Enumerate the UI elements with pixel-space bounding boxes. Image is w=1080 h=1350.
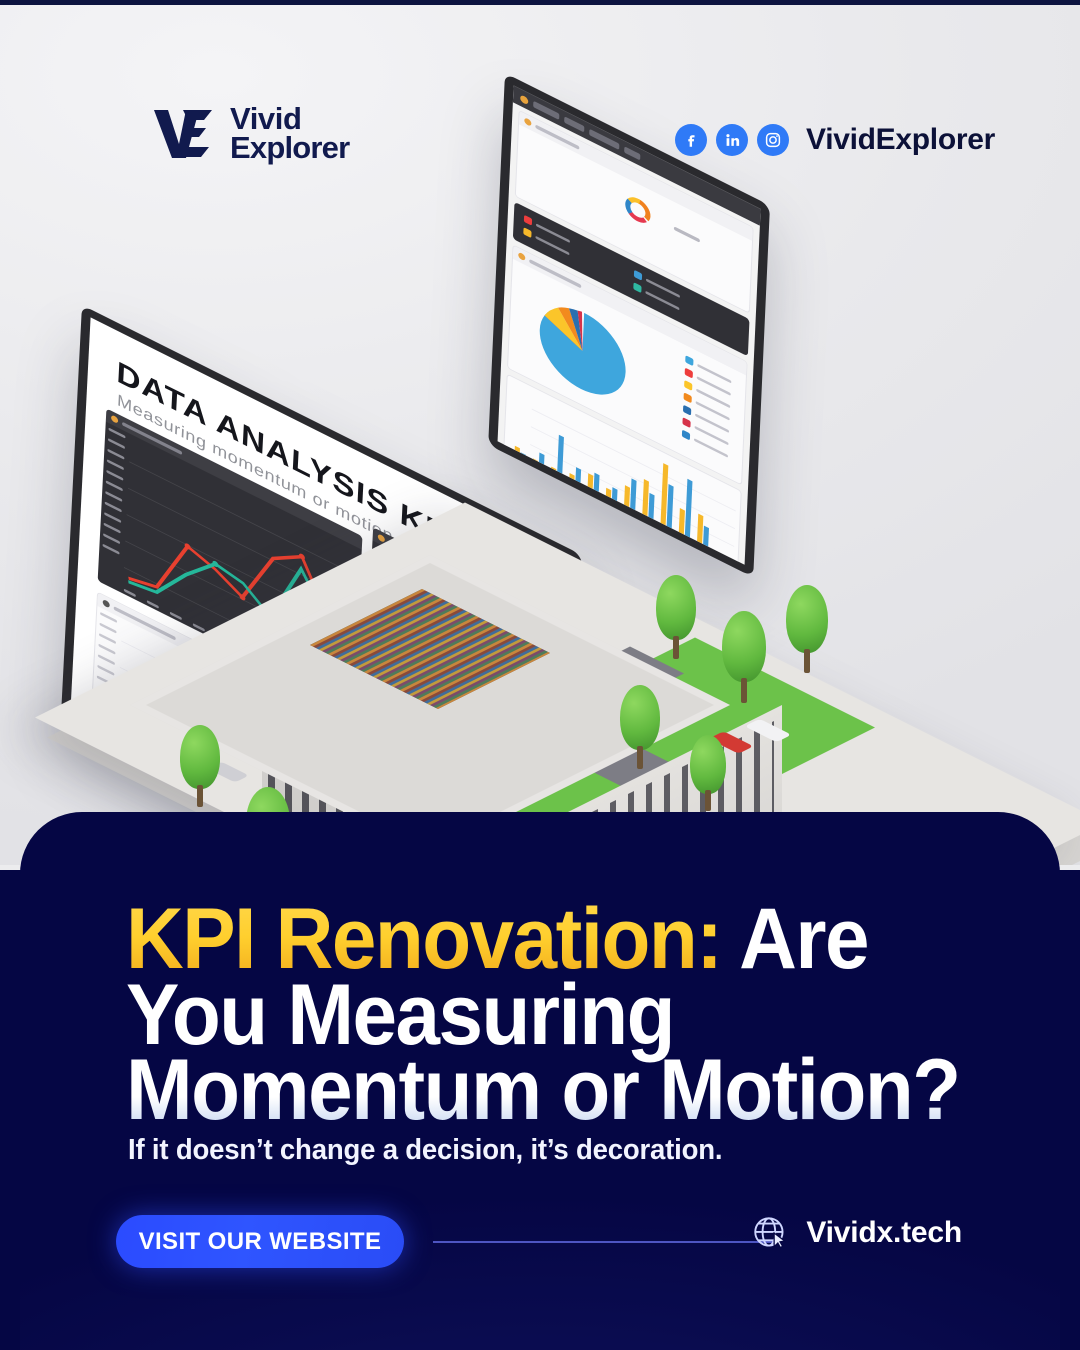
visit-website-label: VISIT OUR WEBSITE bbox=[139, 1228, 382, 1256]
vivid-explorer-monogram-icon bbox=[152, 106, 216, 162]
globe-cursor-icon bbox=[750, 1212, 792, 1254]
visit-website-button[interactable]: VISIT OUR WEBSITE bbox=[116, 1215, 404, 1268]
toolbar-label bbox=[564, 116, 584, 132]
social-handle: VividExplorer bbox=[806, 123, 995, 157]
tree bbox=[722, 611, 766, 705]
toolbar-status-dot bbox=[520, 94, 528, 105]
tree bbox=[180, 725, 220, 809]
headline: KPI Renovation: Are You Measuring Moment… bbox=[126, 902, 960, 1129]
footer-divider bbox=[433, 1241, 780, 1243]
tree bbox=[656, 575, 696, 661]
instagram-icon[interactable] bbox=[757, 124, 789, 156]
social-row: VividExplorer bbox=[675, 123, 995, 157]
panel-status-dot bbox=[518, 252, 525, 262]
hero-section: DATA ANALYSIS KPL Measuring momentum or … bbox=[0, 5, 1080, 865]
tree bbox=[690, 735, 726, 813]
headline-tail: Are bbox=[721, 891, 868, 987]
promo-card: KPI Renovation: Are You Measuring Moment… bbox=[20, 812, 1060, 1350]
toolbar-label bbox=[624, 146, 640, 160]
website-lockup[interactable]: Vividx.tech bbox=[750, 1212, 962, 1254]
linkedin-icon[interactable] bbox=[716, 124, 748, 156]
isometric-city-model bbox=[150, 435, 1050, 865]
toolbar-label bbox=[533, 101, 559, 120]
donut-value-label bbox=[674, 226, 700, 243]
headline-line-3: Momentum or Motion? bbox=[126, 1053, 960, 1129]
tree bbox=[786, 585, 828, 675]
brand-lockup[interactable]: Vivid Explorer bbox=[152, 105, 349, 163]
website-url: Vividx.tech bbox=[806, 1216, 962, 1250]
promo-subtitle: If it doesn’t change a decision, it’s de… bbox=[128, 1134, 722, 1167]
panel-status-dot bbox=[524, 117, 531, 127]
tree bbox=[620, 685, 660, 771]
facebook-icon[interactable] bbox=[675, 124, 707, 156]
brand-name: Vivid Explorer bbox=[230, 105, 349, 163]
brand-name-line2: Explorer bbox=[230, 134, 349, 163]
